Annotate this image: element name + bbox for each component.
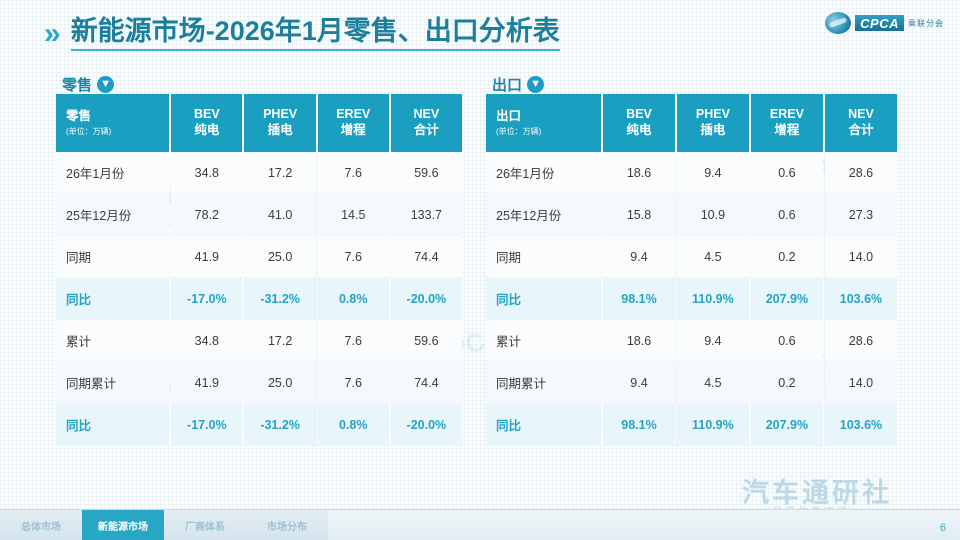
download-circle-icon: ▼ [527, 76, 544, 93]
retail-cell: 74.4 [391, 236, 462, 278]
retail-cell: 74.4 [391, 362, 462, 404]
table-row: 累计18.69.40.628.6 [486, 320, 897, 362]
retail-cell: 0.8% [318, 278, 389, 320]
retail-row-label: 累计 [56, 320, 169, 362]
retail-cell: 59.6 [391, 320, 462, 362]
page-title: 新能源市场-2026年1月零售、出口分析表 [71, 16, 560, 51]
table-row: 26年1月份18.69.40.628.6 [486, 152, 897, 194]
section-label-export-text: 出口 [492, 74, 522, 95]
page-title-prefix: 新能源市场 [71, 16, 206, 46]
export-header-phev: PHEV 插电 [677, 94, 749, 152]
export-cell: 103.6% [825, 278, 897, 320]
export-cell: 0.2 [751, 362, 823, 404]
footer-tab-2[interactable]: 厂商体系 [164, 510, 246, 540]
export-header-title: 出口 [496, 109, 601, 125]
double-chevron-icon: » [44, 19, 57, 49]
export-header-bev: BEV 纯电 [603, 94, 675, 152]
export-header-unit: (单位：万辆) [496, 127, 601, 137]
export-cell: 27.3 [825, 194, 897, 236]
export-cell: 9.4 [603, 362, 675, 404]
export-cell: 10.9 [677, 194, 749, 236]
slide-canvas: » 新能源市场-2026年1月零售、出口分析表 CPCA 乘联分会 CPCA 乘… [0, 0, 960, 540]
cpca-swoosh-icon [825, 12, 851, 34]
cpca-logo: CPCA 乘联分会 [825, 12, 944, 34]
export-header-nev: NEV 合计 [825, 94, 897, 152]
export-cell: 0.6 [751, 152, 823, 194]
retail-cell: 133.7 [391, 194, 462, 236]
retail-cell: -20.0% [391, 278, 462, 320]
table-row: 同比-17.0%-31.2%0.8%-20.0% [56, 278, 462, 320]
export-cell: 4.5 [677, 236, 749, 278]
export-row-label: 同比 [486, 404, 601, 446]
retail-header-erev: EREV 增程 [318, 94, 389, 152]
footer-tab-1[interactable]: 新能源市场 [82, 510, 164, 540]
cpca-logo-mark: CPCA [855, 15, 904, 31]
table-row: 同比98.1%110.9%207.9%103.6% [486, 404, 897, 446]
table-row: 26年1月份34.817.27.659.6 [56, 152, 462, 194]
export-cell: 207.9% [751, 278, 823, 320]
export-cell: 0.6 [751, 194, 823, 236]
table-row: 同期9.44.50.214.0 [486, 236, 897, 278]
export-row-label: 同期累计 [486, 362, 601, 404]
table-row: 同比-17.0%-31.2%0.8%-20.0% [56, 404, 462, 446]
export-cell: 28.6 [825, 320, 897, 362]
table-row: 同期累计41.925.07.674.4 [56, 362, 462, 404]
export-header-label: 出口 (单位：万辆) [486, 94, 601, 152]
table-row: 25年12月份15.810.90.627.3 [486, 194, 897, 236]
export-cell: 98.1% [603, 278, 675, 320]
export-cell: 14.0 [825, 236, 897, 278]
retail-row-label: 同期累计 [56, 362, 169, 404]
table-row: 同期41.925.07.674.4 [56, 236, 462, 278]
export-table-head: 出口 (单位：万辆) BEV 纯电 PHEV 插电 EREV 增程 NEV [486, 94, 897, 152]
retail-cell: 0.8% [318, 404, 389, 446]
table-row: 同比98.1%110.9%207.9%103.6% [486, 278, 897, 320]
retail-header-label: 零售 (单位：万辆) [56, 94, 169, 152]
retail-cell: 78.2 [171, 194, 242, 236]
export-cell: 9.4 [677, 152, 749, 194]
export-cell: 0.6 [751, 320, 823, 362]
retail-table: 零售 (单位：万辆) BEV 纯电 PHEV 插电 EREV 增程 NEV [54, 94, 464, 446]
download-circle-icon: ▼ [97, 76, 114, 93]
retail-cell: 41.9 [171, 236, 242, 278]
page-title-rest: -2026年1月零售、出口分析表 [206, 16, 560, 46]
export-cell: 110.9% [677, 278, 749, 320]
export-cell: 18.6 [603, 152, 675, 194]
export-cell: 28.6 [825, 152, 897, 194]
page-number: 6 [940, 522, 946, 534]
watermark-brand: 汽车通研社 [742, 471, 892, 510]
section-label-export: 出口 ▼ [492, 74, 544, 95]
table-header-row: 出口 (单位：万辆) BEV 纯电 PHEV 插电 EREV 增程 NEV [486, 94, 897, 152]
footer-tabs[interactable]: 总体市场新能源市场厂商体系市场分布 [0, 510, 328, 540]
retail-cell: 41.0 [244, 194, 315, 236]
export-table-body: 26年1月份18.69.40.628.625年12月份15.810.90.627… [486, 152, 897, 446]
retail-cell: 25.0 [244, 236, 315, 278]
export-row-label: 累计 [486, 320, 601, 362]
export-cell: 103.6% [825, 404, 897, 446]
table-row: 同期累计9.44.50.214.0 [486, 362, 897, 404]
export-cell: 4.5 [677, 362, 749, 404]
retail-cell: -17.0% [171, 278, 242, 320]
export-cell: 110.9% [677, 404, 749, 446]
retail-cell: 41.9 [171, 362, 242, 404]
table-header-row: 零售 (单位：万辆) BEV 纯电 PHEV 插电 EREV 增程 NEV [56, 94, 462, 152]
export-table: 出口 (单位：万辆) BEV 纯电 PHEV 插电 EREV 增程 NEV [484, 94, 899, 446]
retail-header-title: 零售 [66, 109, 169, 125]
export-cell: 9.4 [603, 236, 675, 278]
retail-cell: 7.6 [318, 152, 389, 194]
retail-cell: -20.0% [391, 404, 462, 446]
retail-row-label: 同比 [56, 404, 169, 446]
retail-cell: -31.2% [244, 404, 315, 446]
retail-cell: 59.6 [391, 152, 462, 194]
retail-cell: 7.6 [318, 320, 389, 362]
retail-cell: -17.0% [171, 404, 242, 446]
retail-table-body: 26年1月份34.817.27.659.625年12月份78.241.014.5… [56, 152, 462, 446]
export-cell: 0.2 [751, 236, 823, 278]
retail-table-head: 零售 (单位：万辆) BEV 纯电 PHEV 插电 EREV 增程 NEV [56, 94, 462, 152]
retail-cell: 34.8 [171, 152, 242, 194]
export-cell: 9.4 [677, 320, 749, 362]
retail-cell: 25.0 [244, 362, 315, 404]
export-cell: 98.1% [603, 404, 675, 446]
export-row-label: 25年12月份 [486, 194, 601, 236]
retail-cell: 17.2 [244, 320, 315, 362]
export-cell: 18.6 [603, 320, 675, 362]
retail-row-label: 同比 [56, 278, 169, 320]
retail-row-label: 同期 [56, 236, 169, 278]
retail-header-unit: (单位：万辆) [66, 127, 169, 137]
cpca-logo-cn: 乘联分会 [908, 18, 944, 29]
export-header-erev: EREV 增程 [751, 94, 823, 152]
export-row-label: 26年1月份 [486, 152, 601, 194]
retail-header-bev: BEV 纯电 [171, 94, 242, 152]
retail-cell: 34.8 [171, 320, 242, 362]
section-label-retail-text: 零售 [62, 74, 92, 95]
retail-cell: 17.2 [244, 152, 315, 194]
export-row-label: 同期 [486, 236, 601, 278]
table-row: 累计34.817.27.659.6 [56, 320, 462, 362]
export-cell: 14.0 [825, 362, 897, 404]
slide-title-bar: » 新能源市场-2026年1月零售、出口分析表 [44, 16, 560, 51]
retail-row-label: 26年1月份 [56, 152, 169, 194]
retail-row-label: 25年12月份 [56, 194, 169, 236]
export-row-label: 同比 [486, 278, 601, 320]
export-cell: 207.9% [751, 404, 823, 446]
retail-cell: 7.6 [318, 362, 389, 404]
retail-cell: 14.5 [318, 194, 389, 236]
footer-tab-0[interactable]: 总体市场 [0, 510, 82, 540]
section-label-retail: 零售 ▼ [62, 74, 114, 95]
table-row: 25年12月份78.241.014.5133.7 [56, 194, 462, 236]
retail-header-phev: PHEV 插电 [244, 94, 315, 152]
retail-header-nev: NEV 合计 [391, 94, 462, 152]
retail-cell: -31.2% [244, 278, 315, 320]
retail-cell: 7.6 [318, 236, 389, 278]
export-cell: 15.8 [603, 194, 675, 236]
footer-tab-3[interactable]: 市场分布 [246, 510, 328, 540]
